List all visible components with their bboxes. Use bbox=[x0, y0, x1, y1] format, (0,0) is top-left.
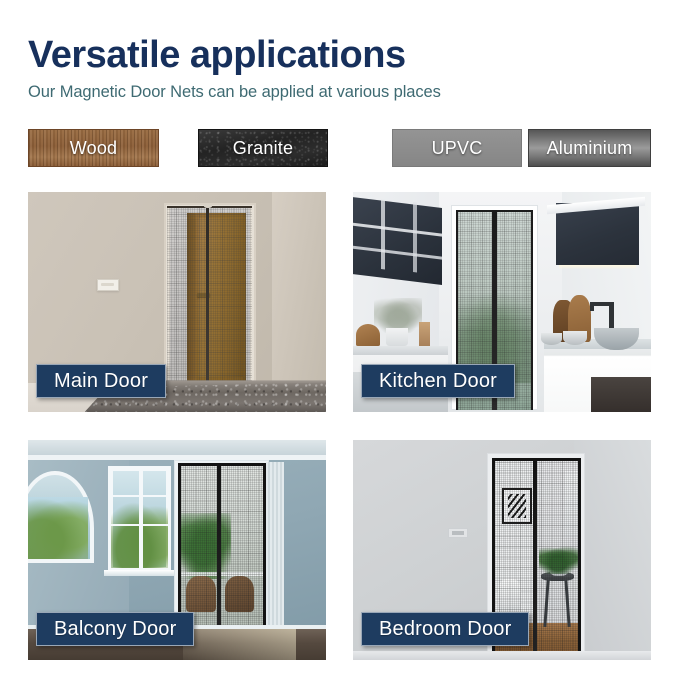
mesh-center-split bbox=[533, 458, 537, 656]
material-chip-granite[interactable]: Granite bbox=[198, 129, 328, 167]
cutting-board-left bbox=[356, 324, 380, 346]
material-chip-row: Wood Granite UPVC Aluminium bbox=[28, 129, 651, 167]
panel-label-banner: Bedroom Door bbox=[361, 612, 529, 646]
panel-label-text: Main Door bbox=[54, 370, 148, 393]
window-mullion-vertical bbox=[139, 466, 143, 572]
window-mullion-horizontal-2 bbox=[108, 524, 171, 526]
material-chip-wood-label: Wood bbox=[70, 138, 118, 159]
material-chip-upvc[interactable]: UPVC bbox=[392, 129, 522, 167]
dark-cabinet bbox=[591, 377, 651, 412]
photo-panel-bedroom-door[interactable]: Bedroom Door bbox=[353, 440, 651, 660]
material-chip-aluminium[interactable]: Aluminium bbox=[528, 129, 651, 167]
photo-panel-kitchen-door[interactable]: Kitchen Door bbox=[353, 192, 651, 412]
overhead-shelving bbox=[353, 196, 442, 285]
material-chip-aluminium-label: Aluminium bbox=[547, 138, 633, 159]
wall-right bbox=[272, 192, 326, 386]
arched-window-view bbox=[28, 497, 88, 559]
shelf-upright-2 bbox=[413, 202, 417, 273]
panel-label-banner: Main Door bbox=[36, 364, 166, 398]
material-chip-upvc-label: UPVC bbox=[432, 138, 483, 159]
panel-label-text: Balcony Door bbox=[54, 618, 176, 641]
curtain bbox=[266, 462, 284, 638]
utensil-holder bbox=[419, 322, 431, 346]
infographic-page: Versatile applications Our Magnetic Door… bbox=[0, 0, 679, 679]
baseboard bbox=[353, 651, 651, 660]
photo-panel-balcony-door[interactable]: Balcony Door bbox=[28, 440, 326, 660]
panel-label-text: Bedroom Door bbox=[379, 618, 511, 641]
sunlight-patch bbox=[183, 629, 296, 660]
bowl-1 bbox=[563, 331, 587, 345]
photo-panel-main-door[interactable]: Main Door bbox=[28, 192, 326, 412]
window-mullion-horizontal-1 bbox=[108, 495, 171, 497]
page-title: Versatile applications bbox=[28, 36, 679, 76]
material-chip-granite-label: Granite bbox=[233, 138, 293, 159]
mesh-center-split bbox=[206, 206, 209, 385]
plant-pot bbox=[386, 328, 408, 346]
panel-label-text: Kitchen Door bbox=[379, 370, 497, 393]
panel-label-banner: Balcony Door bbox=[36, 612, 194, 646]
window-sill bbox=[104, 570, 176, 576]
application-photo-grid: Main Door bbox=[28, 192, 651, 660]
left-countertop bbox=[353, 346, 448, 355]
panel-label-banner: Kitchen Door bbox=[361, 364, 515, 398]
wall-switch-plate bbox=[97, 279, 119, 291]
magnetic-mesh-screen bbox=[167, 206, 252, 385]
mesh-top-pin bbox=[204, 204, 212, 208]
mesh-center-split bbox=[217, 463, 221, 642]
under-cabinet-light bbox=[559, 265, 636, 270]
shelf-upright-1 bbox=[381, 199, 385, 270]
material-chip-wood[interactable]: Wood bbox=[28, 129, 159, 167]
header: Versatile applications Our Magnetic Door… bbox=[0, 0, 679, 102]
wall-switch-plate bbox=[448, 528, 467, 538]
bowl-2 bbox=[541, 333, 562, 345]
page-subtitle: Our Magnetic Door Nets can be applied at… bbox=[28, 83, 679, 102]
